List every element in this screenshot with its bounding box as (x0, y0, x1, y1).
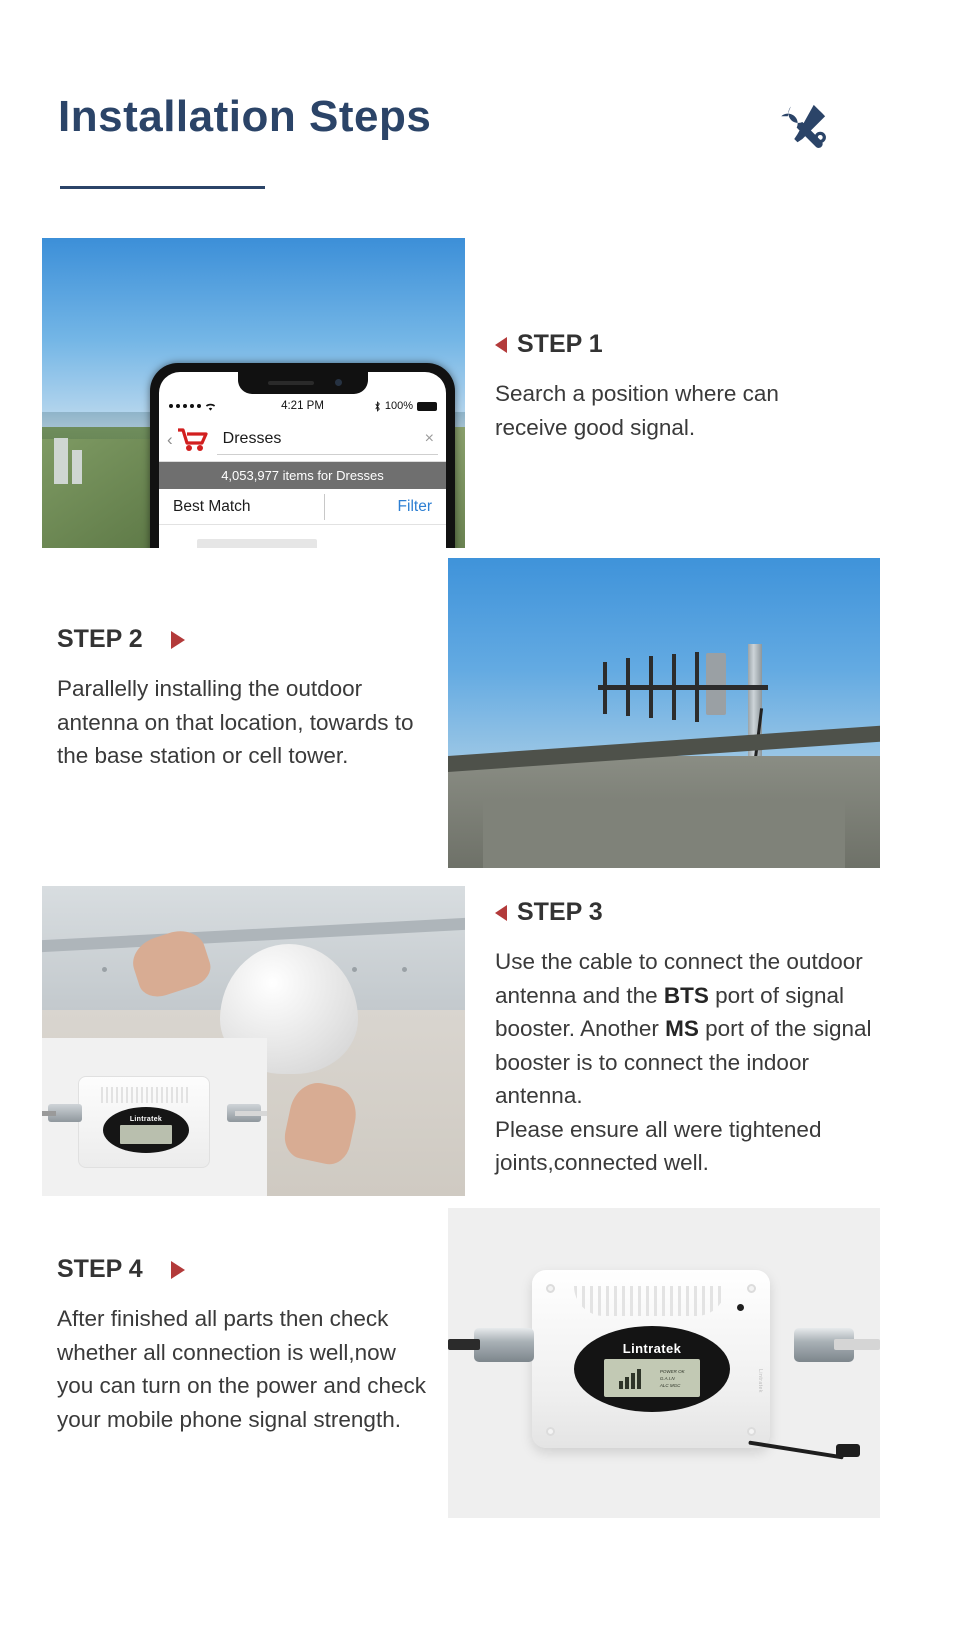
search-value: Dresses (223, 430, 282, 448)
lcd-line: ALC MGC (660, 1383, 685, 1388)
power-led (737, 1304, 744, 1311)
title-underline (60, 186, 265, 189)
installation-steps-page: Installation Steps (0, 0, 960, 1649)
roof-wall (483, 799, 846, 868)
brand-label: Lintratek (130, 1116, 162, 1123)
screw-hole (546, 1284, 555, 1293)
power-plug (836, 1444, 860, 1457)
results-strip (159, 525, 446, 548)
step-2-text: STEP 2 Parallelly installing the outdoor… (57, 625, 457, 773)
antenna-element (603, 662, 607, 714)
left-triangle-marker-icon (495, 337, 507, 353)
step-2-image (448, 558, 880, 868)
battery-icon (417, 402, 437, 411)
lcd-glass: POWER OK G.A.I.N ALC MGC (604, 1359, 700, 1397)
step-3-label-row: STEP 3 (495, 898, 895, 927)
status-right: 100% (351, 400, 446, 412)
step-4-label: STEP 4 (57, 1255, 143, 1284)
cable (42, 1111, 56, 1116)
battery-percent: 100% (385, 400, 413, 412)
ms-keyword: MS (665, 1016, 699, 1041)
screw-hole (747, 1284, 756, 1293)
building (72, 450, 82, 484)
back-chevron-icon[interactable]: ‹ (167, 430, 173, 450)
step-4-body: After finished all parts then check whet… (57, 1302, 437, 1436)
lcd-glass (120, 1125, 172, 1144)
status-time: 4:21 PM (254, 400, 352, 412)
signal-booster-device: Lintratek POWER OK G.A.I.N ALC MGC (532, 1270, 770, 1448)
smartphone-mockup: 4:21 PM 100% ‹ (150, 363, 455, 548)
booster-inset-photo: Lintratek (42, 1038, 267, 1196)
step-3-image: Lintratek (42, 886, 465, 1196)
cable (235, 1111, 267, 1116)
page-title: Installation Steps (58, 92, 431, 142)
antenna-element (649, 656, 653, 718)
step-4-text: STEP 4 After finished all parts then che… (57, 1255, 457, 1436)
power-wire (748, 1441, 843, 1460)
close-icon[interactable]: × (425, 430, 434, 448)
right-triangle-marker-icon (171, 1261, 185, 1279)
wifi-icon (204, 401, 217, 412)
right-triangle-marker-icon (171, 631, 185, 649)
phone-screen: 4:21 PM 100% ‹ (159, 372, 446, 548)
step-3-text: STEP 3 Use the cable to connect the outd… (495, 898, 895, 1180)
step-3-body: Use the cable to connect the outdoor ant… (495, 945, 895, 1180)
result-card (197, 539, 317, 548)
step-2-label: STEP 2 (57, 625, 143, 654)
front-camera (335, 379, 342, 386)
left-triangle-marker-icon (495, 905, 507, 921)
lcd-labels: POWER OK G.A.I.N ALC MGC (660, 1369, 685, 1388)
phone-search-row[interactable]: ‹ Dresses × (159, 418, 446, 462)
filter-button[interactable]: Filter (398, 498, 432, 516)
antenna-element (672, 654, 676, 720)
vent-grille (101, 1087, 189, 1103)
screw-hole (546, 1427, 555, 1436)
signal-booster-device: Lintratek (78, 1076, 210, 1168)
antenna-element (695, 652, 699, 722)
row-divider (324, 494, 325, 520)
antenna-element (626, 658, 630, 716)
step-3-body-part4: Please ensure all were tightened joints,… (495, 1117, 821, 1176)
coaxial-cable (834, 1339, 880, 1350)
step-4-image: Lintratek POWER OK G.A.I.N ALC MGC Lintr (448, 1208, 880, 1518)
vent-grille (574, 1286, 726, 1316)
building (54, 438, 68, 484)
tools-wrench-screwdriver-icon (778, 100, 830, 152)
step-1-text: STEP 1 Search a position where can recei… (495, 330, 895, 444)
step-1-label-row: STEP 1 (495, 330, 895, 359)
screw-hole (747, 1427, 756, 1436)
result-count-bar: 4,053,977 items for Dresses (159, 462, 446, 489)
n-type-connector (474, 1328, 534, 1362)
sort-label[interactable]: Best Match (173, 498, 251, 516)
shopping-cart-icon (175, 427, 209, 453)
earpiece-speaker (268, 381, 314, 385)
bluetooth-icon (374, 401, 381, 412)
phone-notch (238, 372, 368, 394)
page-header: Installation Steps (0, 0, 960, 215)
sort-filter-row[interactable]: Best Match Filter (159, 489, 446, 525)
antenna-reflector (706, 653, 726, 715)
lcd-line: G.A.I.N (660, 1376, 685, 1381)
lcd-line: POWER OK (660, 1369, 685, 1374)
brand-label: Lintratek (623, 1341, 682, 1356)
signal-dots-icon (159, 401, 254, 412)
rooftop (448, 756, 880, 868)
step-2-label-row: STEP 2 (57, 625, 457, 654)
signal-bars-icon (619, 1367, 641, 1389)
step-1-body: Search a position where can receive good… (495, 377, 840, 444)
bts-keyword: BTS (664, 983, 709, 1008)
antenna-boom (598, 685, 768, 690)
step-4-label-row: STEP 4 (57, 1255, 457, 1284)
device-side-text: Lintratek (757, 1369, 763, 1393)
lcd-display: Lintratek (103, 1107, 189, 1153)
search-input[interactable]: Dresses × (217, 425, 438, 455)
lcd-display: Lintratek POWER OK G.A.I.N ALC MGC (574, 1326, 730, 1412)
step-2-body: Parallelly installing the outdoor antenn… (57, 672, 427, 773)
step-1-label: STEP 1 (517, 330, 603, 359)
phone-status-bar: 4:21 PM 100% (159, 394, 446, 418)
step-3-label: STEP 3 (517, 898, 603, 927)
step-1-image: 4:21 PM 100% ‹ (42, 238, 465, 548)
